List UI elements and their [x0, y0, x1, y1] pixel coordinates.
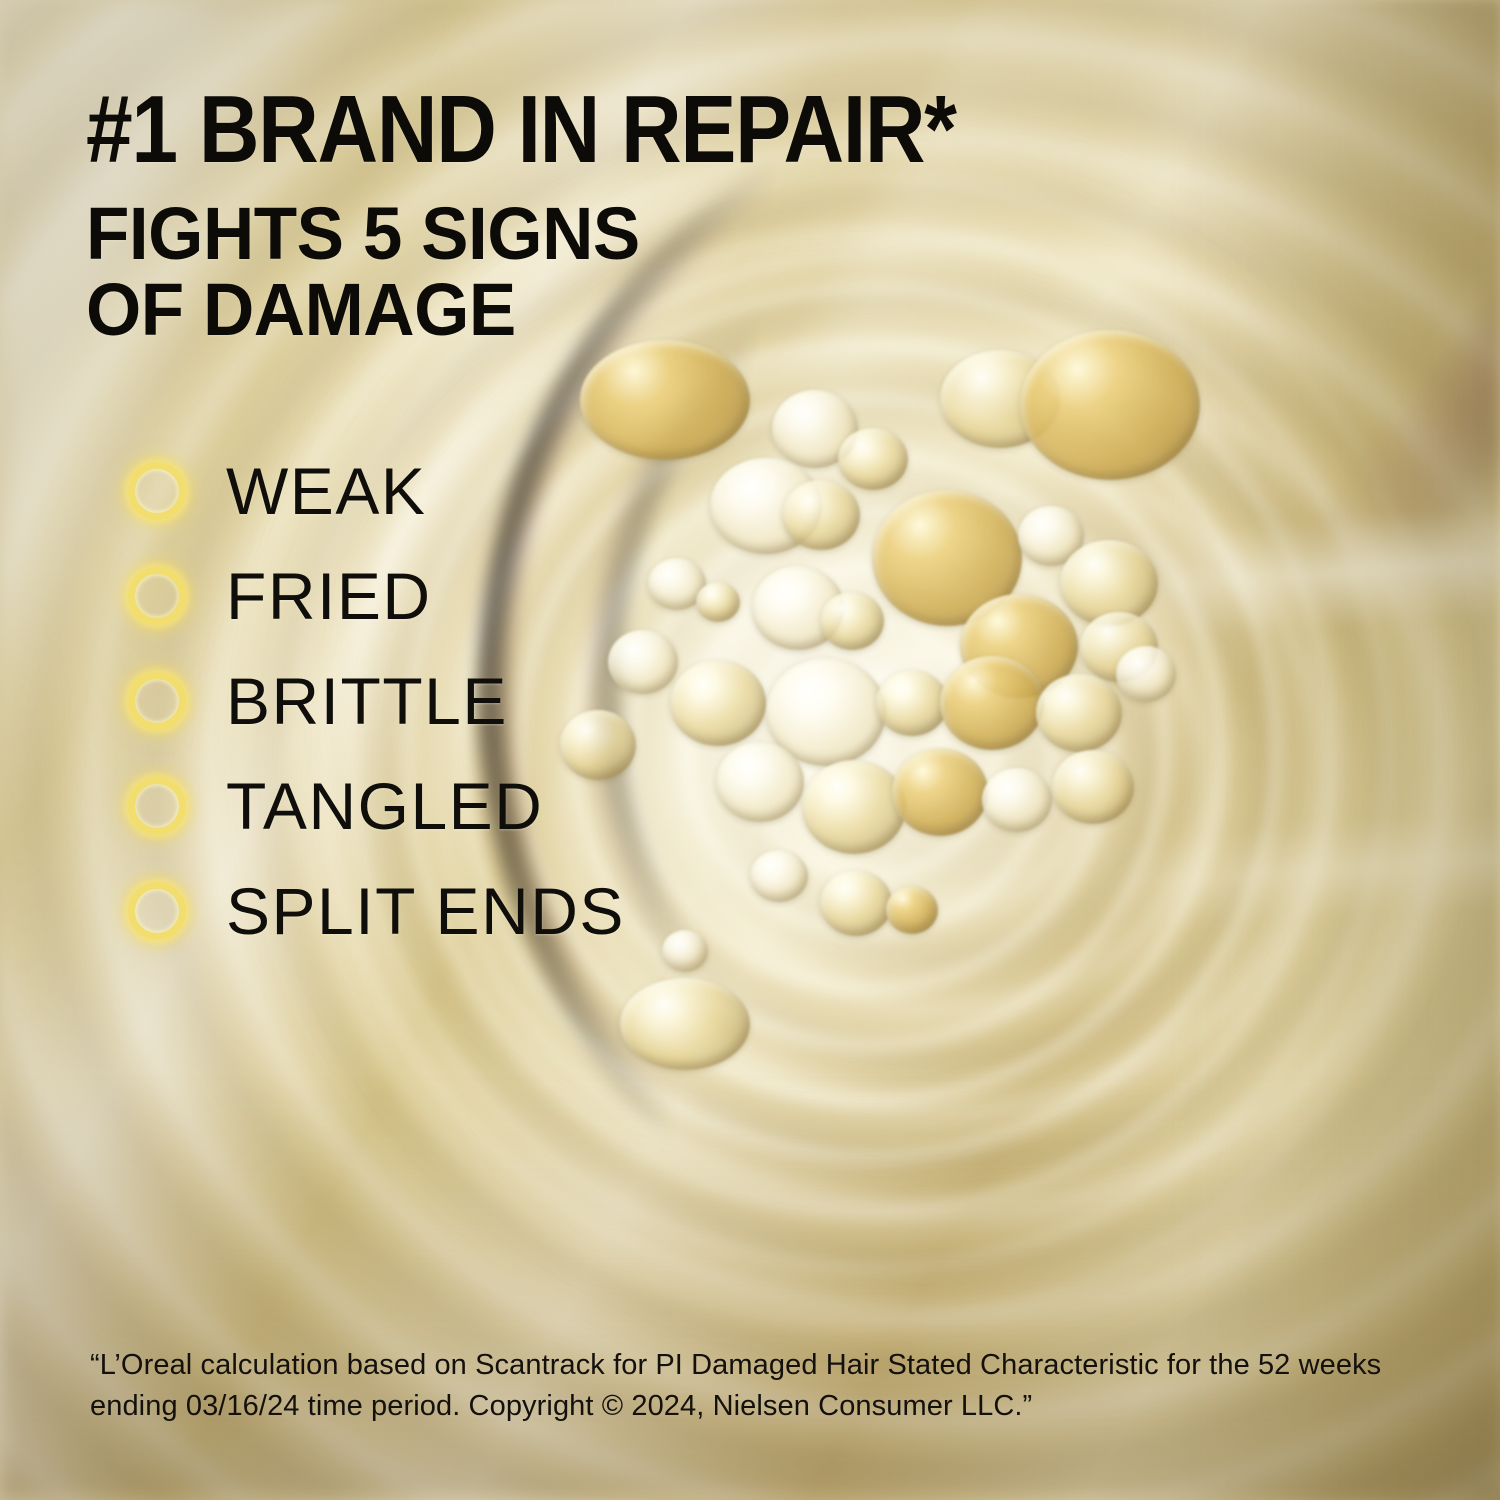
oil-droplet: [876, 670, 948, 736]
oil-droplet: [1036, 674, 1122, 752]
page-title: #1 BRAND IN REPAIR*: [86, 86, 956, 174]
oil-droplet: [886, 886, 938, 934]
product-claim-panel: #1 BRAND IN REPAIR* FIGHTS 5 SIGNS OF DA…: [0, 0, 1500, 1500]
list-item: BRITTLE: [128, 648, 625, 753]
oil-droplet: [838, 428, 908, 490]
oil-droplet: [670, 660, 766, 746]
oil-droplet-cluster: [520, 330, 1220, 1050]
oil-droplet: [820, 870, 892, 936]
ring-bullet-icon: [128, 882, 186, 940]
list-item: TANGLED: [128, 753, 625, 858]
list-item: SPLIT ENDS: [128, 858, 625, 963]
subheadline-line-1: FIGHTS 5 SIGNS: [86, 196, 640, 272]
oil-droplet: [940, 656, 1044, 750]
oil-droplet: [750, 850, 808, 902]
damage-sign-label: FRIED: [226, 563, 432, 629]
oil-droplet: [892, 748, 988, 836]
damage-sign-label: BRITTLE: [226, 668, 508, 734]
oil-droplet: [1116, 646, 1176, 702]
list-item: WEAK: [128, 438, 625, 543]
footnote-disclaimer: “L’Oreal calculation based on Scantrack …: [90, 1345, 1420, 1427]
subheadline: FIGHTS 5 SIGNS OF DAMAGE: [86, 196, 640, 348]
ring-bullet-icon: [128, 567, 186, 625]
oil-droplet: [620, 978, 750, 1070]
oil-droplet: [696, 582, 740, 622]
damage-sign-label: WEAK: [226, 458, 426, 524]
damage-sign-label: TANGLED: [226, 773, 543, 839]
oil-droplet: [1052, 750, 1134, 824]
ring-bullet-icon: [128, 462, 186, 520]
damage-sign-label: SPLIT ENDS: [226, 878, 625, 944]
subheadline-line-2: OF DAMAGE: [86, 272, 640, 348]
oil-droplet: [820, 592, 884, 650]
oil-droplet: [662, 930, 708, 972]
ring-bullet-icon: [128, 672, 186, 730]
oil-droplet: [782, 480, 860, 550]
damage-signs-list: WEAK FRIED BRITTLE TANGLED SPLIT ENDS: [128, 438, 625, 963]
oil-droplet: [1020, 330, 1200, 480]
list-item: FRIED: [128, 543, 625, 648]
ring-bullet-icon: [128, 777, 186, 835]
oil-droplet: [982, 768, 1052, 832]
oil-droplet: [802, 760, 906, 854]
oil-droplet: [716, 742, 804, 822]
